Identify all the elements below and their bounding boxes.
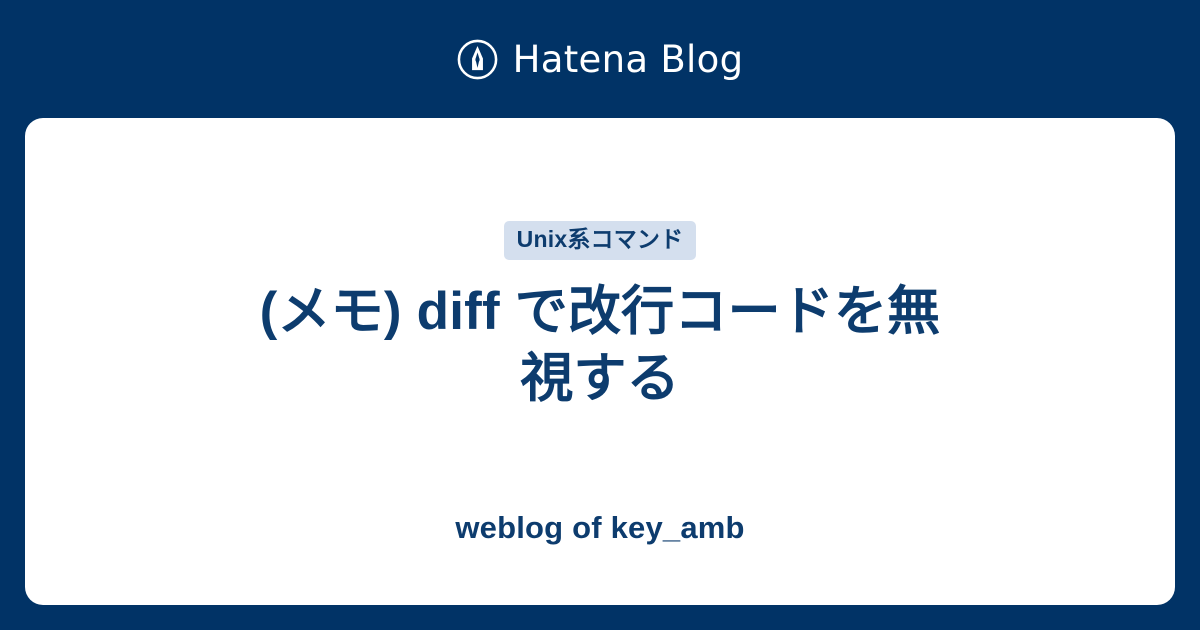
hatena-pen-nib-icon (457, 39, 498, 80)
category-row: Unix系コマンド (504, 221, 697, 260)
blog-name: weblog of key_amb (25, 512, 1175, 543)
category-tag[interactable]: Unix系コマンド (504, 221, 697, 260)
hatena-blog-brand: Hatena Blog (0, 0, 1200, 118)
hatena-blog-wordmark: Hatena Blog (513, 41, 744, 78)
entry-card-content: Unix系コマンド (メモ) diff で改行コードを無視する (25, 118, 1175, 413)
og-image-canvas: Hatena Blog Unix系コマンド (メモ) diff で改行コードを無… (0, 0, 1200, 630)
entry-title: (メモ) diff で改行コードを無視する (250, 278, 950, 413)
entry-card: Unix系コマンド (メモ) diff で改行コードを無視する weblog o… (25, 118, 1175, 605)
